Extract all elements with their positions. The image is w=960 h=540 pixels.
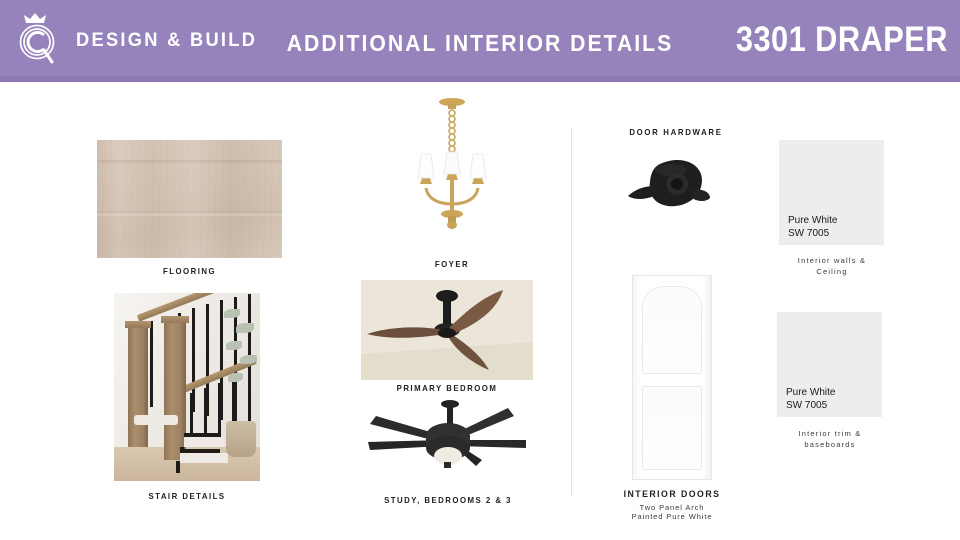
paint-trim-caption-line-2: baseboards [762,440,898,450]
primary-bedroom-fan-image [361,280,533,380]
paint-swatch-trim-name: Pure White [786,386,835,399]
stair-details-caption: STAIR DETAILS [111,491,264,501]
interior-doors-caption: INTERIOR DOORS [612,489,732,500]
door-panel-bottom [642,386,702,470]
vertical-divider [571,128,572,496]
paint-walls-caption-line-1: Interior walls & [764,256,900,266]
study-fan-image [358,392,538,482]
paint-swatch-trim-code: SW 7005 [786,399,827,412]
interior-door-image [632,275,712,480]
paint-swatch-walls-code: SW 7005 [788,227,829,240]
foyer-caption: FOYER [395,259,509,269]
header-bar: DESIGN & BUILD ADDITIONAL INTERIOR DETAI… [0,0,960,82]
paint-swatch-trim: Pure White SW 7005 [777,312,882,417]
stair-details-image [114,293,260,481]
foyer-chandelier-image [404,96,500,246]
interior-doors-subcaption-line-2: Painted Pure White [607,512,737,522]
slide-canvas: DESIGN & BUILD ADDITIONAL INTERIOR DETAI… [0,0,960,540]
paint-walls-caption-line-2: Ceiling [764,267,900,277]
door-panel-top [642,286,702,374]
paint-swatch-walls: Pure White SW 7005 [779,140,884,245]
flooring-caption: FLOORING [104,266,274,276]
paint-trim-caption-line-1: Interior trim & [762,429,898,439]
paint-swatch-walls-name: Pure White [788,214,837,227]
door-lever-image [626,150,718,214]
project-address: 3301 DRAPER [736,20,948,60]
flooring-swatch-image [97,140,282,258]
door-hardware-caption: DOOR HARDWARE [607,127,745,137]
door-slab [632,275,712,480]
study-caption: STUDY, BEDROOMS 2 & 3 [365,495,531,505]
header-underline [0,76,960,82]
